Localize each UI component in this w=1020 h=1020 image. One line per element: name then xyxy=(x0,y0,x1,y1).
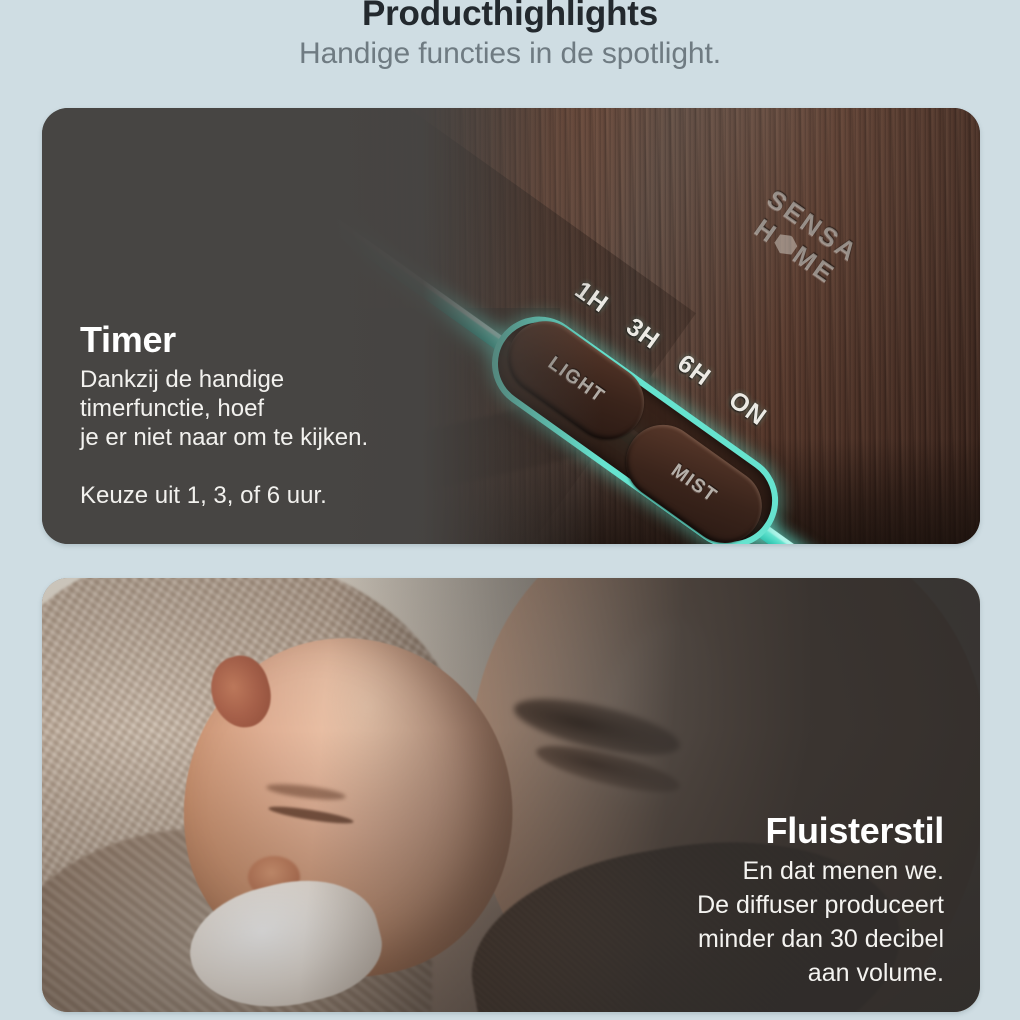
feature-card-timer: SENSA H ME 1H 3H 6H ON LIGHT MIST Timer … xyxy=(42,108,980,544)
timer-body-line-3: je er niet naar om te kijken. xyxy=(80,423,510,452)
timer-copy-block: Timer Dankzij de handige timerfunctie, h… xyxy=(80,319,510,510)
timer-body-line-2: timerfunctie, hoef xyxy=(80,394,510,423)
whisper-quiet-body-line-2: De diffuser produceert xyxy=(484,888,944,922)
timer-body-line-1: Dankzij de handige xyxy=(80,365,510,394)
feature-card-whisper-quiet: Fluisterstil En dat menen we. De diffuse… xyxy=(42,578,980,1012)
whisper-quiet-copy-block: Fluisterstil En dat menen we. De diffuse… xyxy=(484,809,944,990)
timer-note: Keuze uit 1, 3, of 6 uur. xyxy=(80,481,510,510)
whisper-quiet-heading: Fluisterstil xyxy=(484,809,944,853)
page-header: Producthighlights Handige functies in de… xyxy=(0,0,1020,74)
whisper-quiet-body-line-3: minder dan 30 decibel xyxy=(484,922,944,956)
whisper-quiet-body-line-1: En dat menen we. xyxy=(484,854,944,888)
whisper-quiet-body-line-4: aan volume. xyxy=(484,956,944,990)
page-title: Producthighlights xyxy=(0,0,1020,31)
page-subtitle: Handige functies in de spotlight. xyxy=(0,34,1020,74)
timer-heading: Timer xyxy=(80,319,510,361)
